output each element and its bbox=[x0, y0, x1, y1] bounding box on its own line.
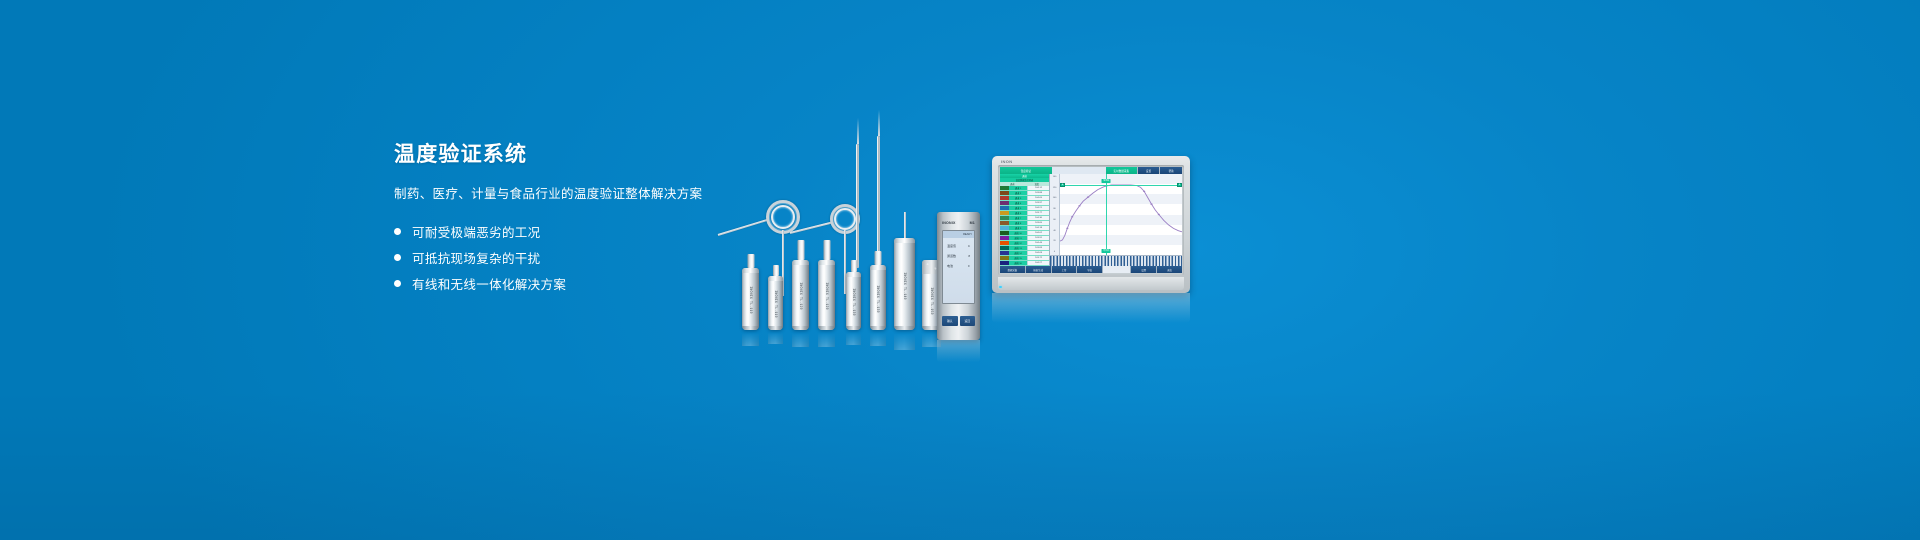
channel-value-cell: 104.12 bbox=[1027, 186, 1049, 190]
chart-data-marker bbox=[1066, 228, 1068, 229]
handheld-reading-row: 电池 F bbox=[943, 264, 974, 268]
channel-id-cell: 通道 3 bbox=[1009, 196, 1027, 200]
channel-value-cell: 104.30 bbox=[1027, 216, 1049, 220]
logger-label: INONIX TL-120 bbox=[798, 283, 802, 310]
channel-id-cell: 通道 4 bbox=[1009, 201, 1027, 205]
handheld-confirm-button[interactable]: 确认 bbox=[942, 316, 958, 326]
toolbar-button-collect[interactable]: 数据采集 bbox=[1000, 266, 1026, 273]
channel-color-swatch bbox=[1000, 261, 1009, 265]
logger-label: INONIX TL-130 bbox=[851, 288, 855, 315]
hero-banner: 温度验证系统 制药、医疗、计量与食品行业的温度验证整体解决方案 可耐受极端恶劣的… bbox=[0, 0, 1920, 540]
bullet-dot-icon bbox=[394, 228, 401, 235]
software-screen: 温度验证 实时数据采集 设置 帮助 通道 温度数据监控列表 通道 bbox=[1000, 167, 1182, 273]
channel-value-cell: 104.27 bbox=[1027, 261, 1049, 265]
y-axis-tick: 60 bbox=[1053, 219, 1055, 221]
toolbar-button-exit[interactable]: 退出 bbox=[1157, 266, 1182, 273]
logger-label: INONIX TL-110 bbox=[773, 290, 777, 317]
titlebar-help-button[interactable]: 帮助 bbox=[1159, 167, 1182, 174]
bullet-label: 有线和无线一体化解决方案 bbox=[412, 274, 566, 293]
status-badge: READY bbox=[963, 233, 972, 236]
handheld-status-bar: READY bbox=[943, 231, 974, 238]
chart-data-marker bbox=[1087, 196, 1089, 197]
channel-color-swatch bbox=[1000, 256, 1009, 260]
spec-handle-left[interactable]: A bbox=[1060, 183, 1065, 187]
channel-value-cell: 103.72 bbox=[1027, 256, 1049, 260]
channel-color-swatch bbox=[1000, 206, 1009, 210]
channel-value-cell: 104.21 bbox=[1027, 206, 1049, 210]
reading-label: 电池 bbox=[947, 264, 953, 268]
reading-label: 温度值 bbox=[947, 244, 956, 248]
toolbar-spacer bbox=[1103, 266, 1131, 273]
channel-value-cell: 103.83 bbox=[1027, 246, 1049, 250]
chart-data-marker bbox=[1078, 205, 1080, 206]
data-logger-body: INONIX TL-110 bbox=[742, 268, 759, 330]
handheld-reading-row: 通道数 8 bbox=[943, 254, 974, 258]
cursor-bottom-label: 时间点 bbox=[1102, 249, 1111, 253]
handheld-reading-row: 温度值 C bbox=[943, 244, 974, 248]
channel-color-swatch bbox=[1000, 211, 1009, 215]
logger-label: INONIX TL-120 bbox=[824, 283, 828, 310]
data-logger-body: INONIX TL-120 bbox=[818, 260, 835, 330]
channel-id-cell: 通道 9 bbox=[1009, 226, 1027, 230]
spec-handle-right[interactable]: B bbox=[1177, 183, 1182, 187]
handheld-brand-row: INONIX M1 bbox=[937, 221, 980, 225]
bullet-dot-icon bbox=[394, 280, 401, 287]
chart-series-svg bbox=[1060, 174, 1182, 255]
chart-data-marker bbox=[1071, 216, 1073, 217]
channel-color-swatch bbox=[1000, 196, 1009, 200]
data-logger-body: INONIX TL-130 bbox=[846, 272, 861, 330]
data-logger-body: INONIX TL-130 bbox=[870, 265, 886, 330]
handheld-keypad: 确认 返回 bbox=[942, 316, 975, 326]
software-body: 通道 温度数据监控列表 通道 温度 通道 1104.12通道 2103.88通道… bbox=[1000, 174, 1182, 266]
monitor-brand: INON bbox=[1001, 159, 1013, 164]
data-logger-body: INONIX TL-120 bbox=[792, 260, 809, 330]
handheld-reader-device[interactable]: INONIX M1 READY 温度值 C 通道数 8 电池 F bbox=[937, 212, 980, 340]
spec-limit-line bbox=[1060, 185, 1182, 186]
y-axis-tick: 40 bbox=[1053, 230, 1055, 232]
toolbar-button-report[interactable]: 报表生成 bbox=[1026, 266, 1052, 273]
y-axis-tick: 100 bbox=[1053, 197, 1056, 199]
channel-value-cell: 103.88 bbox=[1027, 191, 1049, 195]
channel-color-swatch bbox=[1000, 246, 1009, 250]
titlebar-title: 温度验证 bbox=[1000, 167, 1052, 174]
handheld-reflection bbox=[937, 340, 980, 362]
handheld-brand: INONIX bbox=[942, 221, 956, 225]
channel-color-swatch bbox=[1000, 231, 1009, 235]
chart-main: 140120100806040200 bbox=[1050, 174, 1182, 255]
channel-id-cell: 通道 7 bbox=[1009, 216, 1027, 220]
titlebar-settings-button[interactable]: 设置 bbox=[1137, 167, 1160, 174]
chart-y-axis: 140120100806040200 bbox=[1050, 174, 1059, 255]
channel-id-cell: 通道 13 bbox=[1009, 246, 1027, 250]
channel-color-swatch bbox=[1000, 226, 1009, 230]
chart-cursor-line[interactable] bbox=[1106, 174, 1107, 255]
handheld-back-button[interactable]: 返回 bbox=[960, 316, 976, 326]
logger-label: INONIX TL-150 bbox=[929, 287, 933, 314]
chart-data-marker bbox=[1158, 214, 1160, 215]
channel-value-cell: 104.05 bbox=[1027, 196, 1049, 200]
channel-value-cell: 103.97 bbox=[1027, 201, 1049, 205]
temperature-chart[interactable]: A B 保温段 时间点 bbox=[1059, 174, 1182, 255]
bullet-dot-icon bbox=[394, 254, 401, 261]
product-photo-group: INONIX TL-110 INONIX TL-110 INONIX TL-12… bbox=[700, 110, 1240, 340]
toolbar-button-upload[interactable]: 上传 bbox=[1052, 266, 1078, 273]
data-logger-body: INONIX TL-110 bbox=[768, 276, 783, 330]
toolbar-button-export[interactable]: 导出 bbox=[1077, 266, 1103, 273]
channel-value-cell: 103.65 bbox=[1027, 221, 1049, 225]
channel-color-swatch bbox=[1000, 216, 1009, 220]
channel-id-cell: 通道 11 bbox=[1009, 236, 1027, 240]
channel-color-swatch bbox=[1000, 201, 1009, 205]
data-logger-body: INONIX TL-140 bbox=[894, 238, 915, 330]
logger-label: INONIX TL-140 bbox=[902, 272, 906, 299]
channel-id-cell: 通道 8 bbox=[1009, 221, 1027, 225]
channel-value-cell: 104.09 bbox=[1027, 251, 1049, 255]
chart-x-scrollbar[interactable] bbox=[1050, 255, 1182, 266]
channel-value-cell: 104.02 bbox=[1027, 231, 1049, 235]
reading-value: 8 bbox=[968, 254, 970, 258]
channel-id-cell: 通道 12 bbox=[1009, 241, 1027, 245]
logger-label: INONIX TL-110 bbox=[748, 287, 752, 314]
channel-value-cell: 104.44 bbox=[1027, 241, 1049, 245]
reading-value: F bbox=[968, 264, 970, 268]
handheld-screen: READY 温度值 C 通道数 8 电池 F bbox=[942, 230, 975, 304]
y-axis-tick: 0 bbox=[1054, 251, 1055, 253]
handheld-model: M1 bbox=[970, 221, 975, 225]
channel-id-cell: 通道 16 bbox=[1009, 261, 1027, 265]
channel-id-cell: 通道 5 bbox=[1009, 206, 1027, 210]
software-titlebar: 温度验证 实时数据采集 设置 帮助 bbox=[1000, 167, 1182, 174]
channel-color-swatch bbox=[1000, 241, 1009, 245]
y-axis-tick: 20 bbox=[1053, 240, 1055, 242]
toolbar-button-settings[interactable]: 设置 bbox=[1131, 266, 1157, 273]
channel-id-cell: 通道 2 bbox=[1009, 191, 1027, 195]
channel-id-cell: 通道 1 bbox=[1009, 186, 1027, 190]
y-axis-tick: 120 bbox=[1053, 187, 1056, 189]
reading-value: C bbox=[968, 244, 970, 248]
channel-value-cell: 103.91 bbox=[1027, 236, 1049, 240]
bullet-label: 可耐受极端恶劣的工况 bbox=[412, 222, 541, 241]
chart-data-marker bbox=[1143, 191, 1145, 192]
probe-stem bbox=[904, 212, 906, 238]
channel-color-swatch bbox=[1000, 221, 1009, 225]
software-toolbar: 数据采集 报表生成 上传 导出 设置 退出 bbox=[1000, 266, 1182, 273]
chart-data-marker bbox=[1150, 203, 1152, 204]
channel-color-swatch bbox=[1000, 186, 1009, 190]
channel-value-cell: 104.18 bbox=[1027, 226, 1049, 230]
channel-value-cell: 103.77 bbox=[1027, 211, 1049, 215]
channel-color-swatch bbox=[1000, 251, 1009, 255]
monitor-device: INON 温度验证 实时数据采集 设置 帮助 通道 bbox=[992, 156, 1190, 293]
logger-label: INONIX TL-130 bbox=[876, 285, 880, 312]
titlebar-status: 实时数据采集 bbox=[1106, 167, 1137, 174]
cursor-top-label: 保温段 bbox=[1102, 179, 1111, 183]
titlebar-spacer bbox=[1052, 167, 1106, 174]
monitor-reflection bbox=[992, 293, 1190, 323]
y-axis-tick: 80 bbox=[1053, 208, 1055, 210]
monitor-bezel: 温度验证 实时数据采集 设置 帮助 通道 温度数据监控列表 通道 bbox=[998, 165, 1184, 275]
channel-table-rows: 通道 1104.12通道 2103.88通道 3104.05通道 4103.97… bbox=[1000, 186, 1049, 266]
channel-id-cell: 通道 10 bbox=[1009, 231, 1027, 235]
y-axis-tick: 140 bbox=[1053, 176, 1056, 178]
monitor-chin bbox=[998, 277, 1184, 290]
channel-id-cell: 通道 15 bbox=[1009, 256, 1027, 260]
channel-color-swatch bbox=[1000, 191, 1009, 195]
channel-id-cell: 通道 14 bbox=[1009, 251, 1027, 255]
chart-panel: 140120100806040200 bbox=[1050, 174, 1182, 266]
power-led-icon bbox=[999, 286, 1002, 289]
reading-label: 通道数 bbox=[947, 254, 956, 258]
channel-list-panel: 通道 温度数据监控列表 通道 温度 通道 1104.12通道 2103.88通道… bbox=[1000, 174, 1050, 266]
bullet-label: 可抵抗现场复杂的干扰 bbox=[412, 248, 541, 267]
channel-color-swatch bbox=[1000, 236, 1009, 240]
channel-id-cell: 通道 6 bbox=[1009, 211, 1027, 215]
